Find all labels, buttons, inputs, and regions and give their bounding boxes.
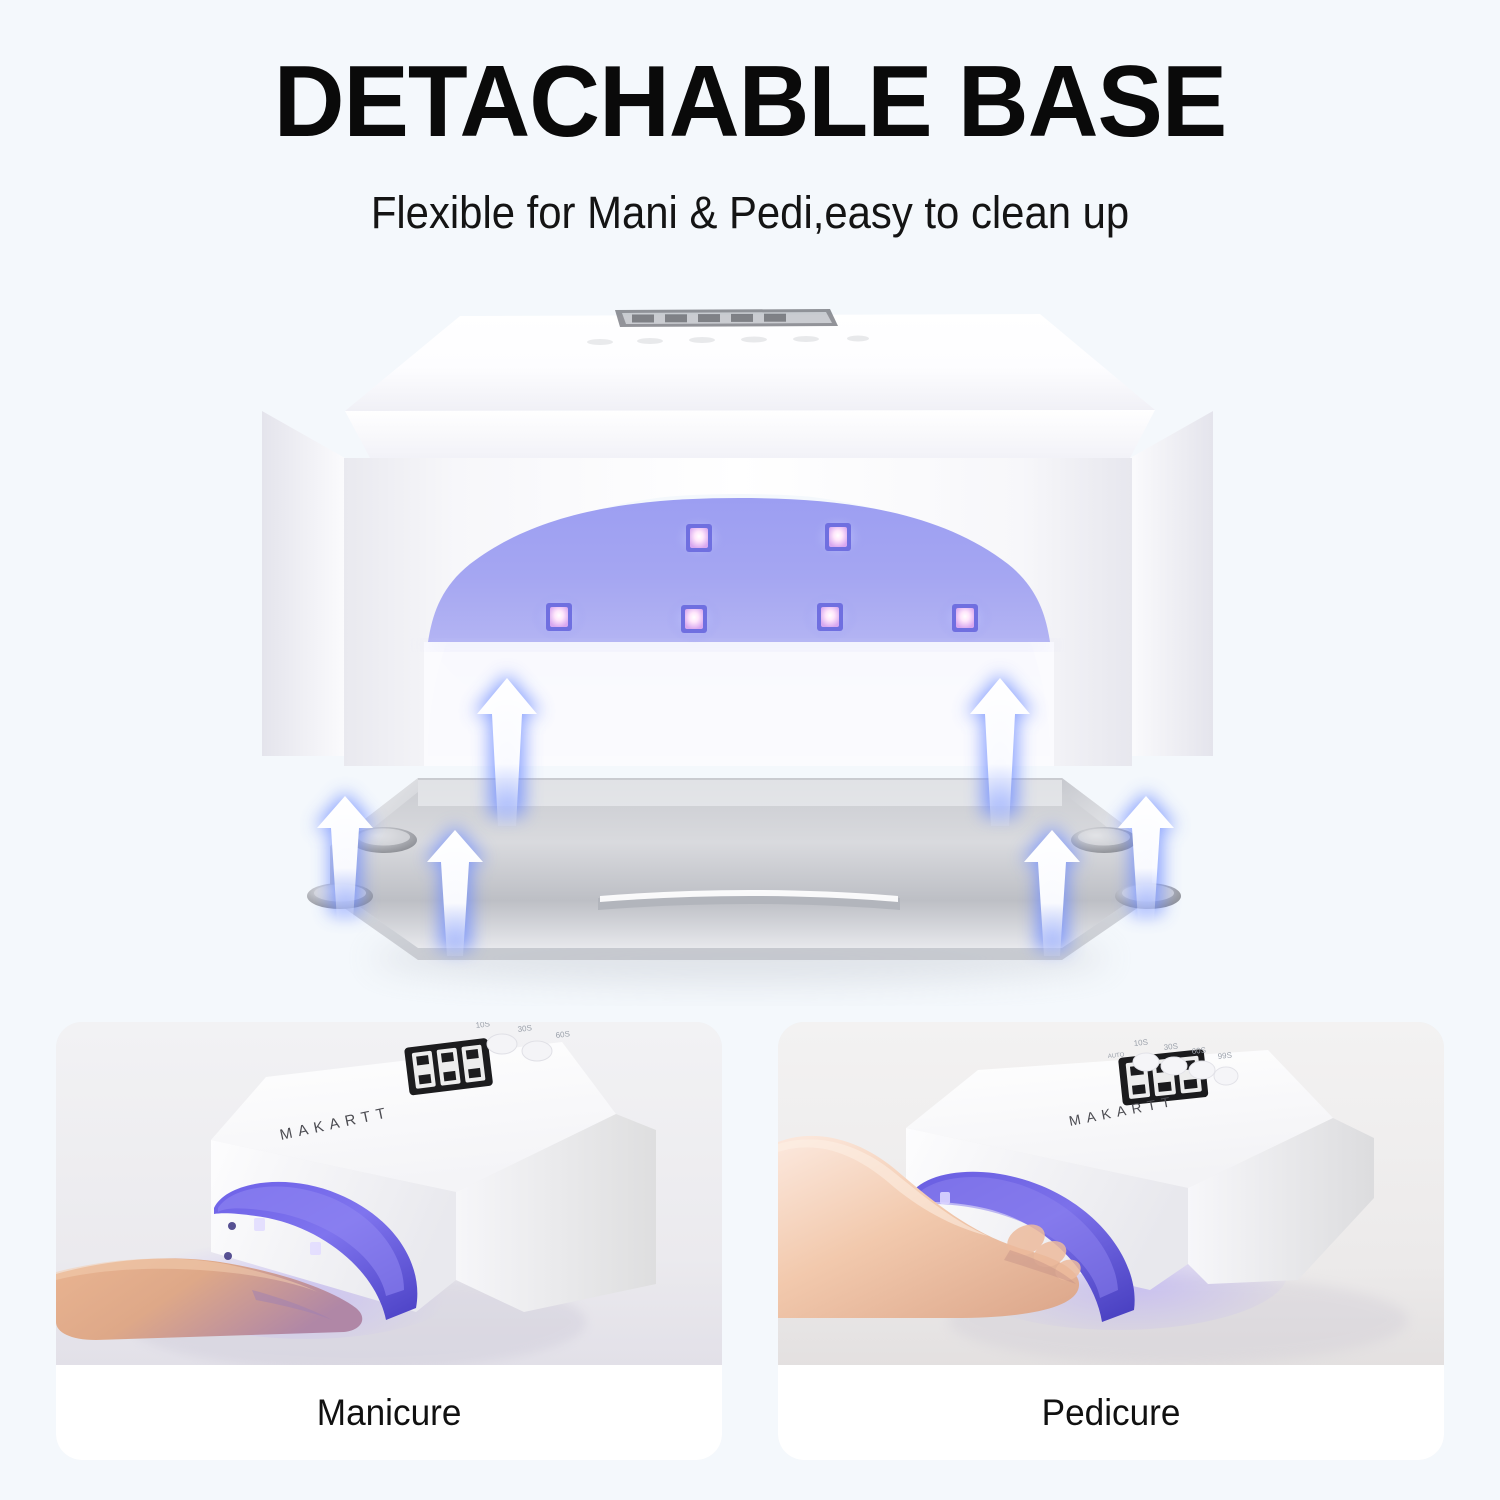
base-foot-pad (1071, 827, 1137, 853)
manicure-photo: 10S 30S 60S MAKARTT (56, 1022, 722, 1367)
panel-pedicure[interactable]: 10S 30S 60S 99S AUTO MAKARTT Pedicure (778, 1022, 1444, 1460)
panel-manicure[interactable]: 10S 30S 60S MAKARTT Manicure (56, 1022, 722, 1460)
led-light (937, 594, 993, 642)
svg-text:30S: 30S (517, 1023, 532, 1034)
page-title: DETACHABLE BASE (23, 52, 1478, 153)
manicure-display (404, 1038, 493, 1096)
svg-text:99S: 99S (1217, 1051, 1232, 1061)
pedicure-caption-bar: Pedicure (778, 1365, 1444, 1460)
header: DETACHABLE BASE Flexible for Mani & Pedi… (0, 0, 1500, 239)
svg-text:60S: 60S (555, 1029, 570, 1040)
led-light (802, 593, 858, 641)
led-light (810, 513, 866, 561)
lamp-top-band (345, 410, 1155, 458)
manicure-caption-bar: Manicure (56, 1365, 722, 1460)
usage-panels: 10S 30S 60S MAKARTT Manicure (0, 1022, 1500, 1462)
pedicure-caption: Pedicure (1042, 1392, 1181, 1434)
svg-text:30S: 30S (1163, 1042, 1178, 1052)
lamp-display-strip (615, 309, 838, 327)
lamp-right-side-wall (1130, 411, 1213, 756)
hero-product-illustration (0, 286, 1500, 1006)
svg-text:60S: 60S (1191, 1046, 1206, 1056)
manicure-caption: Manicure (317, 1392, 462, 1434)
lamp-left-side-wall (262, 411, 345, 756)
led-light (666, 595, 722, 643)
pedicure-photo: 10S 30S 60S 99S AUTO MAKARTT (778, 1022, 1444, 1367)
svg-text:10S: 10S (1133, 1038, 1148, 1048)
lamp-top-facet (345, 314, 1155, 411)
led-light (531, 593, 587, 641)
page-subtitle: Flexible for Mani & Pedi,easy to clean u… (53, 187, 1448, 239)
led-light (671, 514, 727, 562)
